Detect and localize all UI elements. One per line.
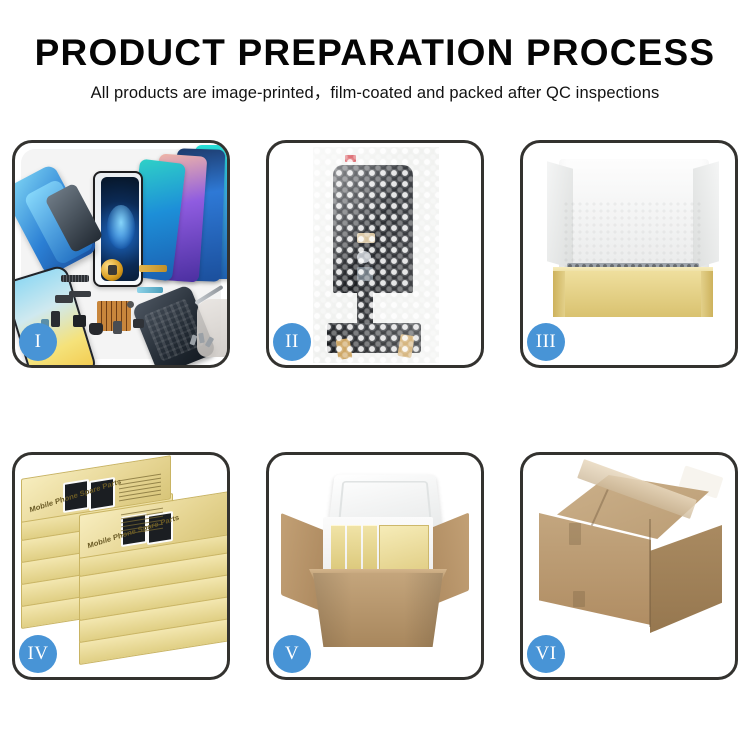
carton-flap-mark-top-icon	[569, 523, 581, 545]
screws-icon	[191, 333, 217, 349]
step-badge-6: VI	[527, 635, 565, 673]
product-preparation-infographic: PRODUCT PREPARATION PROCESS All products…	[0, 0, 750, 750]
step-badge-3: III	[527, 323, 565, 361]
box-tray-edge-left-icon	[553, 271, 565, 317]
step-panel-1[interactable]: I	[12, 140, 230, 368]
screw-head-icon	[127, 301, 134, 308]
step-badge-2: II	[273, 323, 311, 361]
small-part-6-icon	[133, 319, 144, 328]
step-badge-4: IV	[19, 635, 57, 673]
step-badge-1: I	[19, 323, 57, 361]
sealed-carton-icon	[539, 475, 727, 645]
page-subtitle: All products are image-printed，film-coat…	[0, 85, 750, 102]
step-panel-2[interactable]: II	[266, 140, 484, 368]
flex-cable-blue-icon	[137, 287, 163, 293]
open-gold-box-icon	[541, 159, 721, 335]
step-panel-5[interactable]: V	[266, 452, 484, 680]
plastic-sheen-icon	[313, 147, 439, 363]
carton-front-shading-icon	[313, 573, 443, 647]
small-part-2-icon	[51, 311, 60, 327]
step-panel-6[interactable]: VI	[520, 452, 738, 680]
open-carton-icon	[279, 469, 475, 659]
camera-module-icon	[101, 259, 123, 281]
step-panel-4[interactable]: Mobile Phone Spare Parts Mobile Phone Sp…	[12, 452, 230, 680]
bubble-bag-icon	[313, 147, 439, 363]
header: PRODUCT PREPARATION PROCESS All products…	[0, 0, 750, 102]
flex-cable-gold-icon	[139, 265, 167, 272]
carton-side-icon	[650, 525, 722, 633]
stacked-boxes-icon: Mobile Phone Spare Parts Mobile Phone Sp…	[17, 467, 227, 663]
wallpaper-glow-icon	[107, 205, 135, 249]
step-badge-5: V	[273, 635, 311, 673]
earpiece-speaker-icon	[61, 275, 89, 282]
box-tray-body-icon	[553, 271, 713, 317]
box-tray-edge-right-icon	[701, 271, 713, 317]
antenna-strip-icon	[69, 291, 91, 297]
carton-flap-mark-bottom-icon	[573, 591, 585, 607]
vibration-motor-icon	[89, 323, 103, 335]
step-panel-3[interactable]: III	[520, 140, 738, 368]
small-part-3-icon	[73, 315, 86, 327]
page-title: PRODUCT PREPARATION PROCESS	[0, 34, 750, 71]
process-step-grid: I I	[12, 140, 738, 680]
carton-vertical-edge-icon	[649, 519, 651, 627]
small-part-5-icon	[113, 321, 122, 334]
